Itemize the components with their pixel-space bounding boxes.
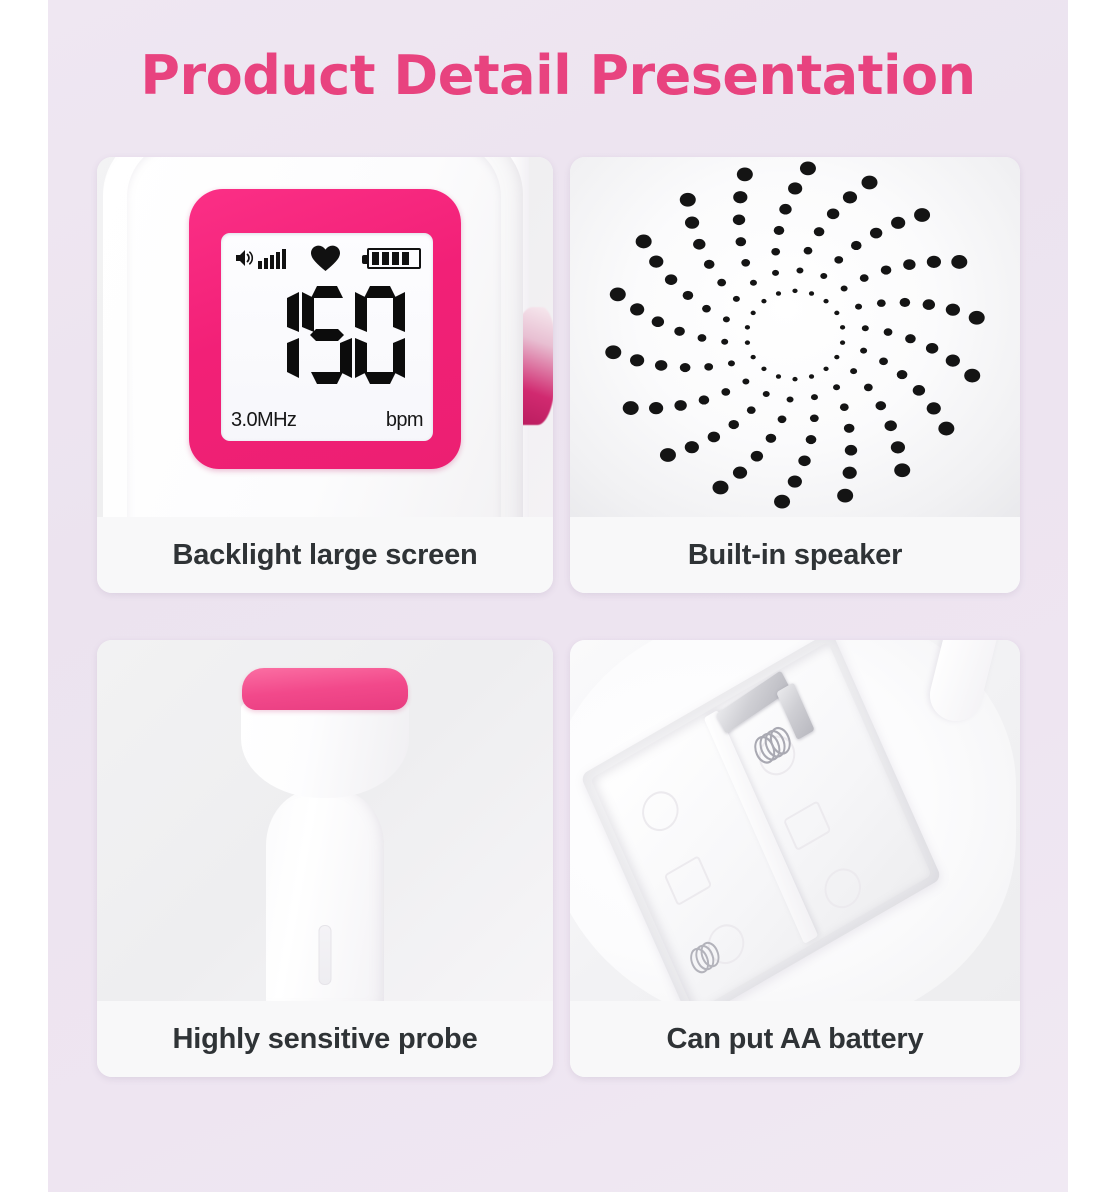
battery-icon	[367, 248, 421, 269]
card-image-sensitive-probe	[97, 640, 553, 1001]
product-detail-page: Product Detail Presentation	[0, 0, 1118, 1200]
feature-card-built-in-speaker[interactable]: Built-in speaker	[570, 157, 1020, 593]
feature-card-sensitive-probe[interactable]: Highly sensitive probe	[97, 640, 553, 1077]
lcd-bezel: 3.0MHz bpm	[189, 189, 461, 469]
card-caption-aa-battery: Can put AA battery	[570, 1001, 1020, 1077]
speaker-grille-pattern	[570, 157, 1020, 517]
doppler-device-body: 3.0MHz bpm	[103, 157, 523, 517]
lcd-frequency-label: 3.0MHz	[231, 409, 296, 432]
ultrasound-probe	[97, 640, 553, 1001]
card-image-built-in-speaker	[570, 157, 1020, 517]
doppler-device-face: 3.0MHz bpm	[127, 157, 501, 517]
page-title: Product Detail Presentation	[48, 44, 1068, 107]
lcd-digit-1	[249, 286, 299, 384]
card-image-backlight-screen: 3.0MHz bpm	[97, 157, 553, 517]
heart-icon	[311, 245, 341, 272]
speaker-volume-group	[233, 247, 286, 269]
card-caption-built-in-speaker: Built-in speaker	[570, 517, 1020, 593]
lcd-digit-5	[302, 286, 352, 384]
feature-card-aa-battery[interactable]: Can put AA battery	[570, 640, 1020, 1077]
speaker-grille	[570, 157, 1020, 517]
speaker-icon	[233, 247, 255, 269]
card-caption-backlight-screen: Backlight large screen	[97, 517, 553, 593]
card-caption-sensitive-probe: Highly sensitive probe	[97, 1001, 553, 1077]
lcd-reading	[221, 279, 433, 391]
battery-compartment	[570, 640, 1020, 1001]
lcd-labels-row: 3.0MHz bpm	[231, 409, 423, 432]
lcd-unit-label: bpm	[386, 409, 423, 432]
volume-bars-icon	[258, 249, 286, 269]
probe-slot-detail	[319, 925, 332, 985]
feature-card-backlight-screen[interactable]: 3.0MHz bpm Backlight large screen	[97, 157, 553, 593]
heartbeat-indicator	[311, 245, 341, 277]
probe-neck	[241, 702, 409, 798]
lcd-screen: 3.0MHz bpm	[221, 233, 433, 441]
probe-pink-cap	[242, 668, 408, 710]
lcd-digit-0	[355, 286, 405, 384]
lcd-status-row	[231, 245, 423, 271]
card-image-aa-battery	[570, 640, 1020, 1001]
